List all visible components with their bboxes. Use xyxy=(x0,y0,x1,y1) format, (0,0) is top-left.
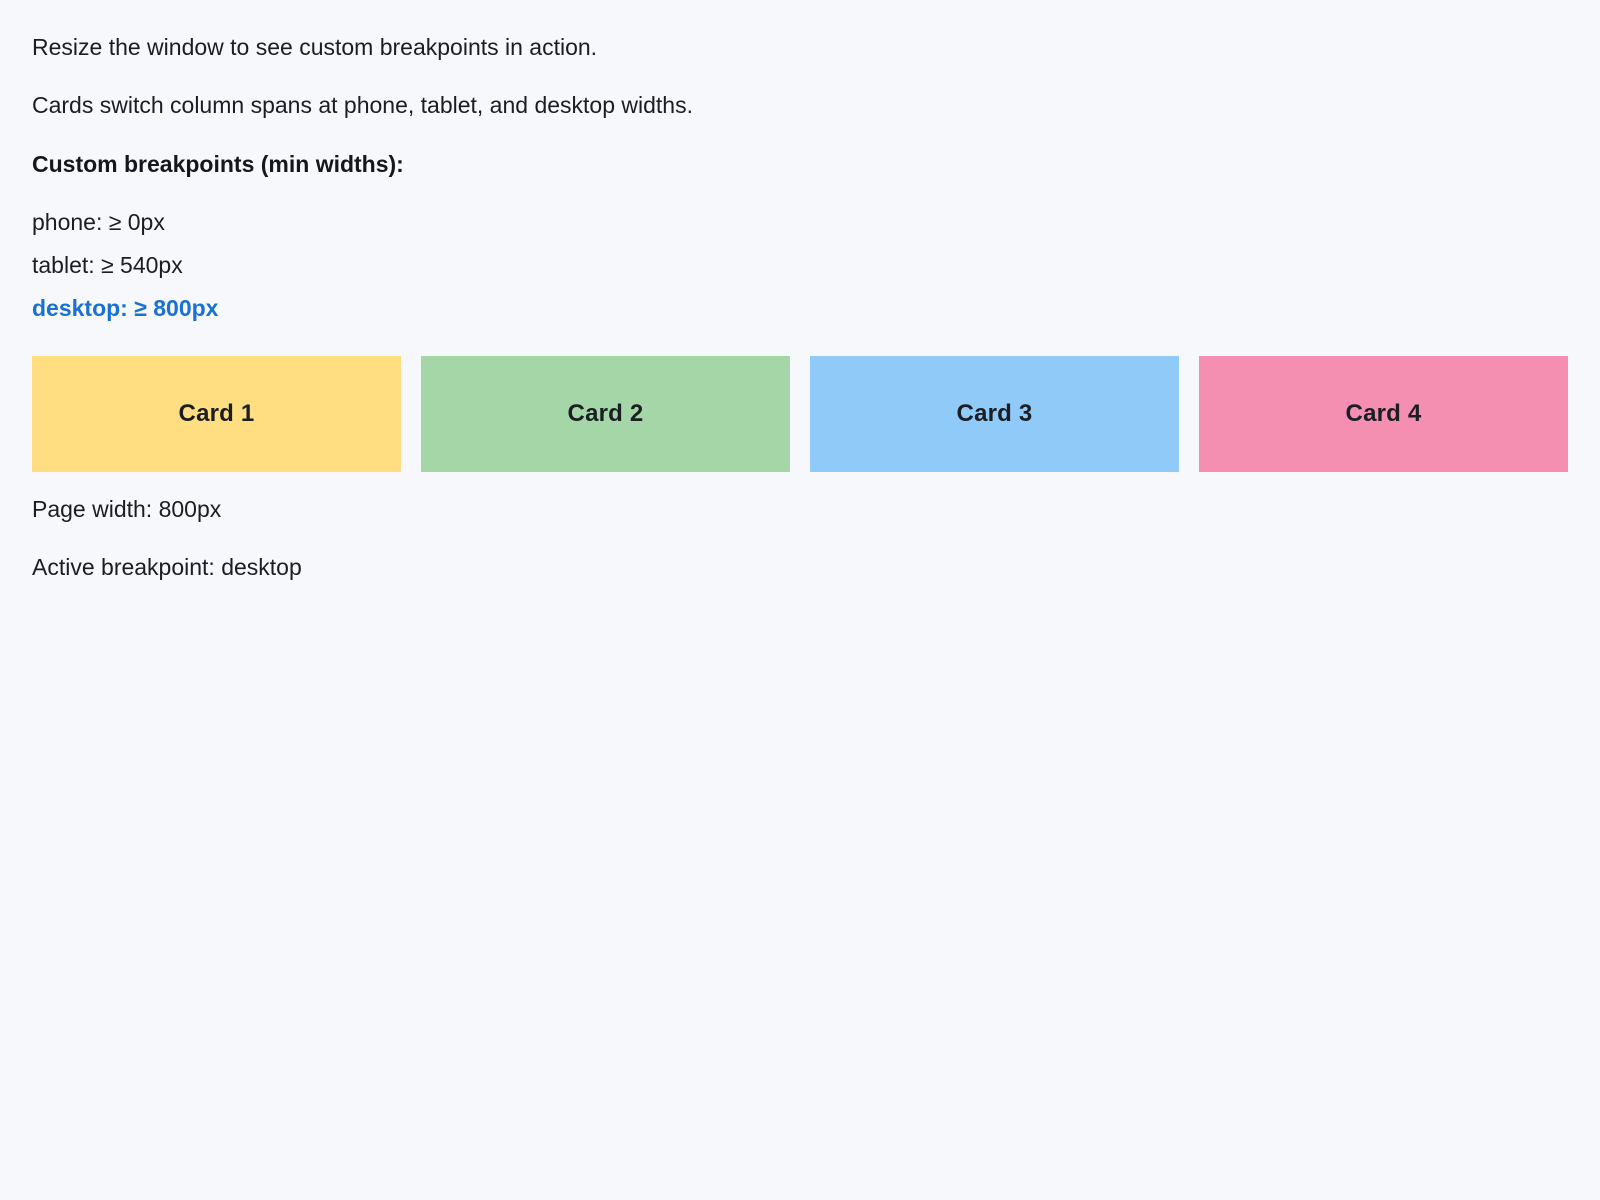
intro-line-2: Cards switch column spans at phone, tabl… xyxy=(32,90,1568,120)
card-3-label: Card 3 xyxy=(957,400,1033,428)
status-block: Page width: 800px Active breakpoint: des… xyxy=(32,494,1568,582)
breakpoint-row-desktop: desktop: ≥ 800px xyxy=(32,287,1568,330)
breakpoint-row-phone: phone: ≥ 0px xyxy=(32,201,1568,244)
active-breakpoint-status: Active breakpoint: desktop xyxy=(32,552,1568,582)
card-4-label: Card 4 xyxy=(1346,400,1422,428)
breakpoints-heading: Custom breakpoints (min widths): xyxy=(32,150,1568,178)
card-4[interactable]: Card 4 xyxy=(1199,356,1568,472)
card-2[interactable]: Card 2 xyxy=(421,356,790,472)
intro-line-1: Resize the window to see custom breakpoi… xyxy=(32,32,1568,62)
breakpoint-row-tablet: tablet: ≥ 540px xyxy=(32,244,1568,287)
breakpoints-list: phone: ≥ 0px tablet: ≥ 540px desktop: ≥ … xyxy=(32,201,1568,330)
cards-grid: Card 1 Card 2 Card 3 Card 4 xyxy=(32,356,1568,472)
card-1[interactable]: Card 1 xyxy=(32,356,401,472)
card-3[interactable]: Card 3 xyxy=(810,356,1179,472)
page-root: Resize the window to see custom breakpoi… xyxy=(0,0,1600,1200)
page-width-status: Page width: 800px xyxy=(32,494,1568,524)
card-2-label: Card 2 xyxy=(568,400,644,428)
card-1-label: Card 1 xyxy=(179,400,255,428)
